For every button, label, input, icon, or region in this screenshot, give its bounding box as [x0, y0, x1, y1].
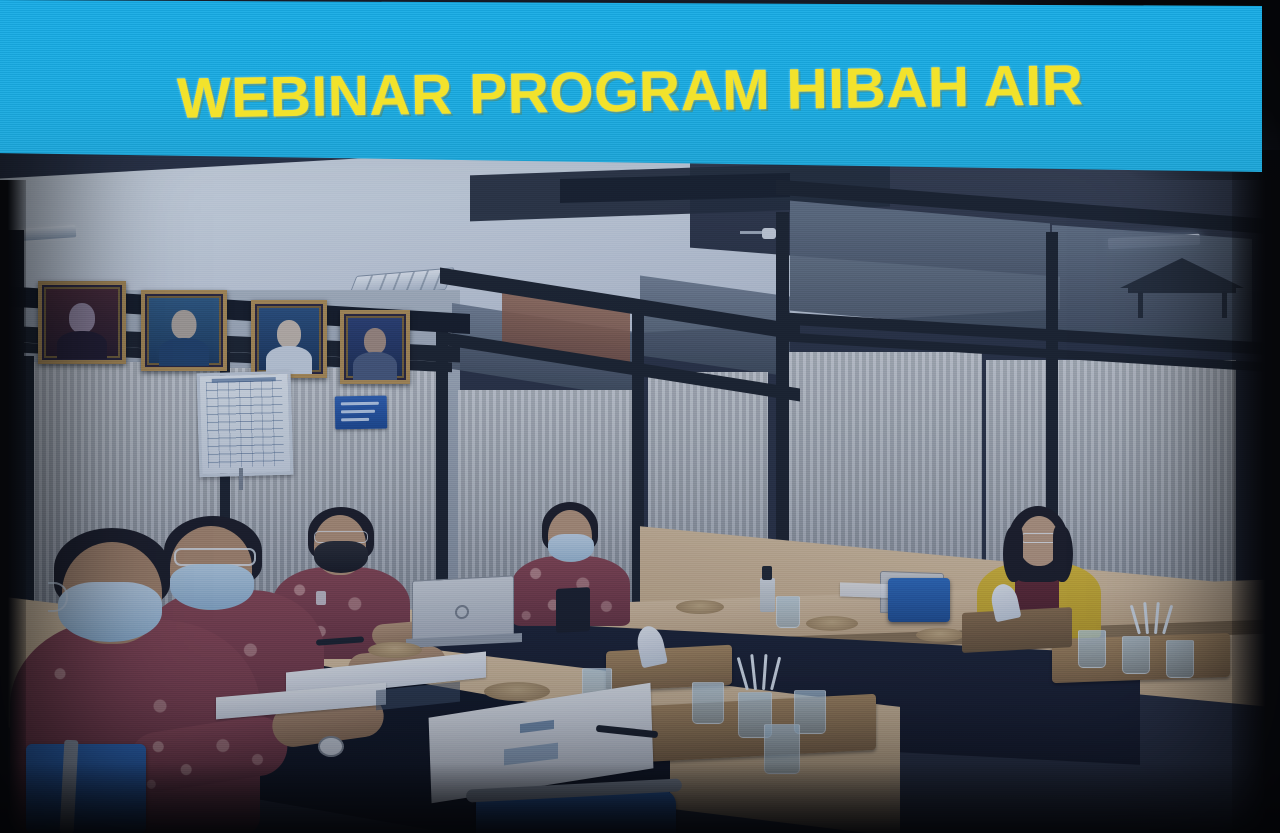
laptop-logo-icon: [455, 605, 469, 620]
gazebo-roof-icon: [1120, 258, 1244, 288]
window-frame-vertical-3: [436, 318, 448, 618]
schedule-whiteboard: [197, 371, 294, 478]
gazebo-post-left: [1138, 292, 1143, 318]
hand-sanitizer-bottle: [760, 578, 775, 612]
cutlery-holder-right: [1132, 604, 1176, 634]
blue-wall-sign: [335, 396, 388, 430]
surgical-mask-blue: [58, 582, 162, 642]
water-glass-2: [692, 682, 724, 724]
banner-text-block: WEBINAR PROGRAM HIBAH AIR MINUM BERBASIS…: [0, 0, 1262, 172]
right-edge-vignette: [1232, 150, 1280, 833]
coaster-5: [484, 682, 550, 701]
cutlery-holder: [740, 656, 784, 690]
portrait-frame-3: [251, 300, 327, 378]
phone-on-table: [556, 587, 590, 633]
wristwatch: [318, 736, 344, 757]
gazebo-post-right: [1222, 292, 1227, 318]
screenshot-canvas: WEBINAR PROGRAM HIBAH AIR MINUM BERBASIS…: [0, 0, 1280, 833]
portrait-frame-1: [38, 281, 126, 364]
coaster-1: [676, 600, 724, 614]
sanitizer-pump-cap: [762, 566, 772, 580]
water-glass-9: [1166, 640, 1194, 678]
coaster-4: [368, 642, 422, 658]
gazebo-eave: [1128, 287, 1236, 293]
hair-side-left: [1003, 526, 1023, 582]
glass-pane-upper-right: [790, 201, 1050, 334]
coaster-3: [916, 628, 964, 642]
left-edge-vignette: [0, 180, 26, 833]
blue-chair-right: [888, 578, 950, 622]
whiteboard-stand: [239, 468, 243, 490]
water-glass-7: [1078, 630, 1106, 668]
water-glass-8: [1122, 636, 1150, 674]
surgical-mask-blue: [548, 534, 594, 562]
bottom-edge-vignette: [0, 763, 1280, 833]
banner-line-1: WEBINAR PROGRAM HIBAH AIR: [0, 53, 1262, 130]
cctv-camera-icon: [762, 228, 776, 239]
hair-side-right: [1053, 526, 1073, 582]
portrait-frame-4: [340, 310, 410, 384]
portrait-frame-2: [141, 290, 227, 371]
webinar-title-banner: WEBINAR PROGRAM HIBAH AIR MINUM BERBASIS…: [0, 0, 1262, 172]
cctv-mount-arm: [740, 231, 764, 234]
coaster-2: [806, 616, 858, 631]
water-glass-6: [776, 596, 800, 628]
